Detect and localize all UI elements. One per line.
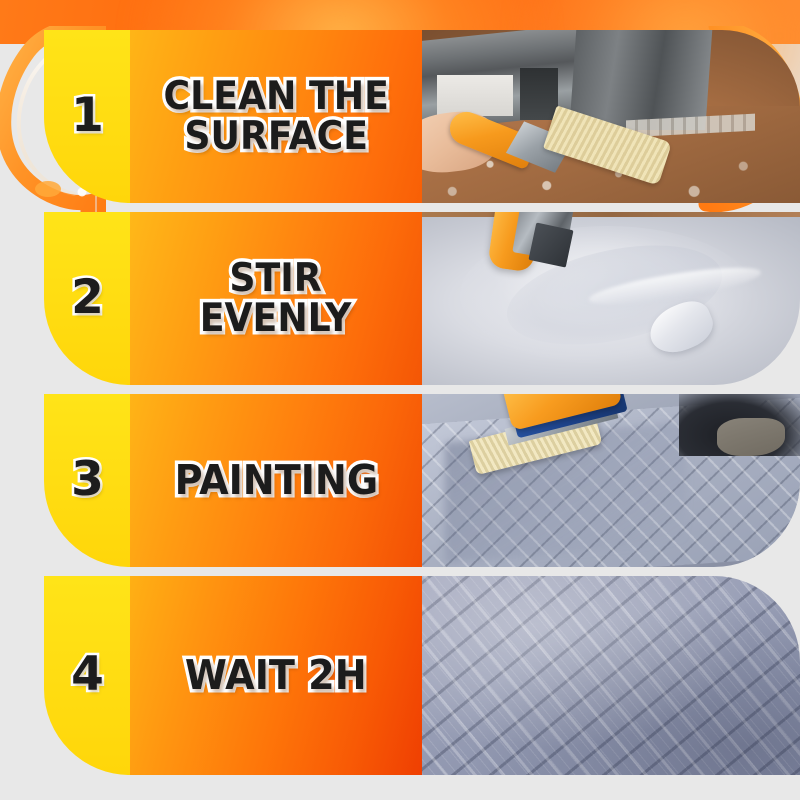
step-title-2: STIR EVENLY <box>195 259 358 339</box>
step-title-1-line-1: CLEAN THE <box>163 74 388 119</box>
step-number-2: 2 <box>71 274 103 321</box>
photo-3-canvas <box>422 394 800 567</box>
photo-3-background-object <box>717 418 785 456</box>
photo-1-canvas <box>422 30 800 203</box>
step-row-1: 1 CLEAN THE SURFACE Hand using <box>44 30 800 203</box>
photo-brush-cleaning-rusty-floor: Hand using a paint brush to clean a rust… <box>422 30 800 203</box>
photo-painting-diamond-plate: Brush applying coating onto a silver dia… <box>422 394 800 567</box>
step-title-block-2: STIR EVENLY <box>130 212 422 385</box>
step-number-1: 1 <box>71 92 103 139</box>
step-title-block-3: PAINTING <box>130 394 422 567</box>
step-number-4: 4 <box>71 651 103 698</box>
step-number-3: 3 <box>71 456 103 503</box>
step-title-block-1: CLEAN THE SURFACE <box>130 30 422 203</box>
photo-2-top-rust-strip <box>422 212 800 217</box>
step-number-block-2: 2 <box>44 212 130 385</box>
step-title-1-line-2: SURFACE <box>184 114 368 159</box>
step-row-3: 3 PAINTING Brush applying coating onto a… <box>44 394 800 567</box>
photo-1-dark-gap <box>520 68 558 120</box>
step-title-3: PAINTING <box>169 460 384 502</box>
step-title-2-line-2: EVENLY <box>200 296 352 341</box>
infographic-stage: 1 CLEAN THE SURFACE Hand using <box>0 0 800 800</box>
photo-1-light-opening <box>437 75 513 117</box>
photo-stirring-grey-paint: Brush stirring grey paint evenly inside … <box>422 212 800 385</box>
photo-2-canvas <box>422 212 800 385</box>
step-title-1: CLEAN THE SURFACE <box>158 77 395 157</box>
step-title-2-line-1: STIR <box>230 256 322 301</box>
photo-finished-coated-plate: Finished coated metal diamond plate surf… <box>422 576 800 775</box>
photo-4-sheen <box>422 576 800 775</box>
step-number-block-3: 3 <box>44 394 130 567</box>
step-row-4: 4 WAIT 2H Finished coated metal diamond … <box>44 576 800 775</box>
step-row-2: 2 STIR EVENLY Brush stirring grey paint … <box>44 212 800 385</box>
photo-4-canvas <box>422 576 800 775</box>
photo-1-metal-column <box>569 30 713 130</box>
step-title-4: WAIT 2H <box>180 655 373 697</box>
step-number-block-4: 4 <box>44 576 130 775</box>
step-title-block-4: WAIT 2H <box>130 576 422 775</box>
step-number-block-1: 1 <box>44 30 130 203</box>
photo-2-brush-bristles <box>528 222 573 267</box>
